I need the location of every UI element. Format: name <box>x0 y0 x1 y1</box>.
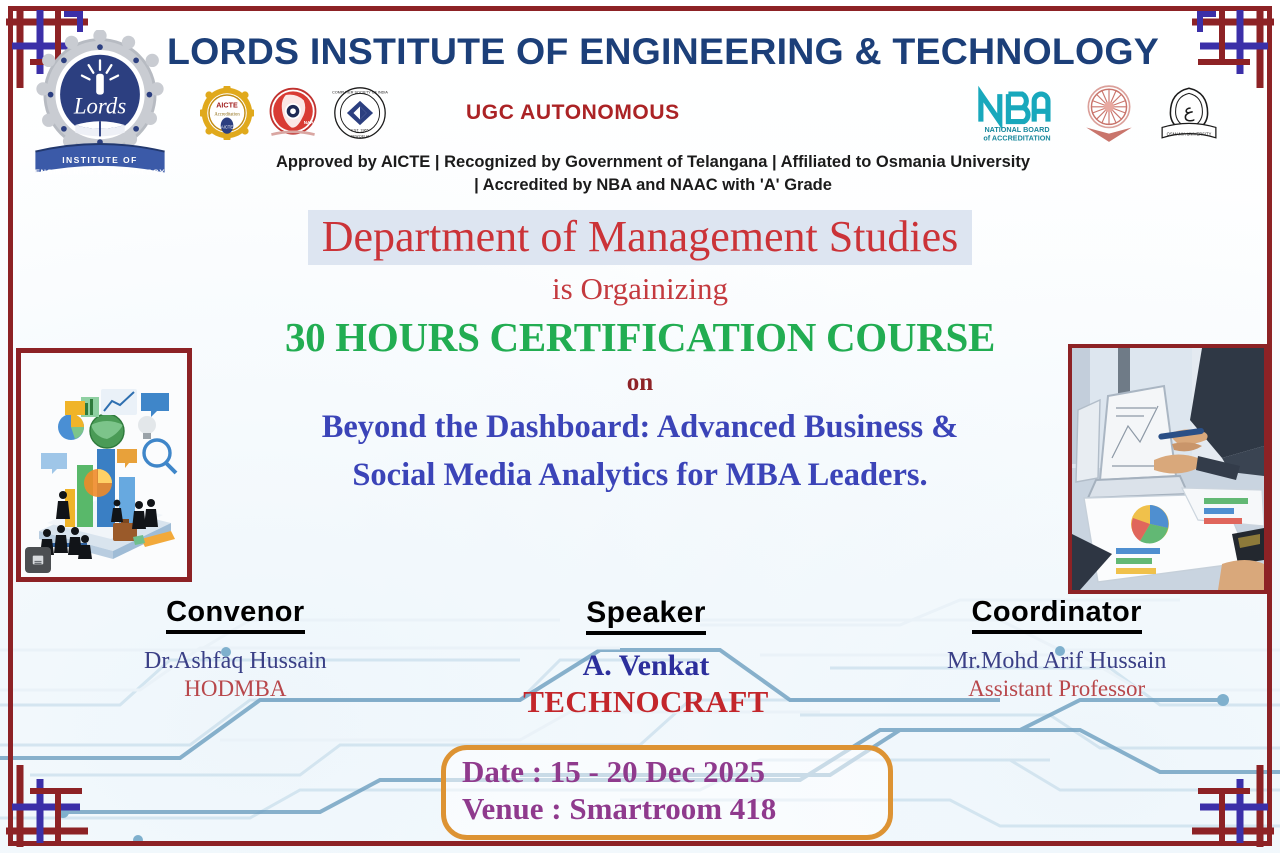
course-topic-line-2: Social Media Analytics for MBA Leaders. <box>210 451 1070 499</box>
convenor-subtitle: HODMBA <box>30 675 441 703</box>
ugc-autonomous-tag: UGC AUTONOMOUS <box>466 101 680 125</box>
svg-text:NEW DELHI: NEW DELHI <box>351 134 370 138</box>
svg-text:of ACCREDITATION: of ACCREDITATION <box>983 134 1050 143</box>
svg-text:OSMANIA UNIVERSITY: OSMANIA UNIVERSITY <box>1167 132 1212 137</box>
coordinator-subtitle: Assistant Professor <box>851 675 1262 703</box>
person-speaker: Speaker A. Venkat TECHNOCRAFT <box>441 596 852 721</box>
convenor-name: Dr.Ashfaq Hussain <box>30 647 441 675</box>
accreditation-logo-row: AICTE Accreditation AICTE NAAC <box>0 77 1280 149</box>
approval-lines: Approved by AICTE | Recognized by Govern… <box>0 151 1280 198</box>
analytics-illustration <box>21 353 187 577</box>
nirf-india-logo: NAAC <box>266 86 320 140</box>
person-convenor: Convenor Dr.Ashfaq Hussain HODMBA <box>0 596 441 721</box>
svg-text:NAAC: NAAC <box>304 120 318 125</box>
business-analytics-illustration-photo <box>16 348 192 582</box>
department-name: Department of Management Studies <box>308 210 973 265</box>
accreditation-logos-right: NATIONAL BOARD of ACCREDITATION <box>974 77 1220 149</box>
event-poster: Lords INSTITUTE OF ENGINEERING & TECHNOL… <box>0 0 1280 853</box>
role-label-coordinator: Coordinator <box>972 596 1142 634</box>
approval-line-2: | Accredited by NBA and NAAC with 'A' Gr… <box>26 174 1280 197</box>
speaker-name: A. Venkat <box>441 648 852 683</box>
book-glyph-icon <box>31 553 45 567</box>
svg-text:NATIONAL BOARD: NATIONAL BOARD <box>984 125 1049 134</box>
schedule-date: Date : 15 - 20 Dec 2025 <box>462 754 872 791</box>
schedule-box: Date : 15 - 20 Dec 2025 Venue : Smartroo… <box>441 745 893 840</box>
svg-text:ENGINEERING & TECHNOLOGY: ENGINEERING & TECHNOLOGY <box>35 167 165 176</box>
svg-text:EST. 1965: EST. 1965 <box>351 129 368 133</box>
coordinator-name: Mr.Mohd Arif Hussain <box>851 647 1262 675</box>
approval-line-1: Approved by AICTE | Recognized by Govern… <box>26 151 1280 174</box>
computer-society-of-india-logo: COMPUTER SOCIETY OF INDIA EST. 1965 NEW … <box>332 85 388 141</box>
lords-institute-logo: Lords INSTITUTE OF ENGINEERING & TECHNOL… <box>24 30 176 182</box>
osmania-university-logo: ع OSMANIA UNIVERSITY <box>1158 82 1220 144</box>
course-topic-line-1: Beyond the Dashboard: Advanced Business … <box>210 403 1070 451</box>
svg-text:ع: ع <box>1183 101 1195 122</box>
role-label-convenor: Convenor <box>166 596 305 634</box>
person-coordinator: Coordinator Mr.Mohd Arif Hussain Assista… <box>851 596 1280 721</box>
svg-text:INSTITUTE OF: INSTITUTE OF <box>62 155 138 165</box>
speaker-subtitle: TECHNOCRAFT <box>441 683 852 720</box>
role-label-speaker: Speaker <box>586 596 706 635</box>
poster-header: Lords INSTITUTE OF ENGINEERING & TECHNOL… <box>0 0 1280 198</box>
business-meeting-analytics-photo <box>1068 344 1268 594</box>
government-of-telangana-emblem <box>1078 82 1140 144</box>
accreditation-logos-left: AICTE Accreditation AICTE NAAC <box>200 85 388 141</box>
meeting-photo-illustration <box>1072 348 1264 590</box>
svg-text:Accreditation: Accreditation <box>214 113 240 118</box>
institute-title: LORDS INSTITUTE OF ENGINEERING & TECHNOL… <box>0 30 1280 73</box>
department-band: Department of Management Studies <box>0 210 1280 265</box>
book-icon <box>25 547 51 573</box>
svg-text:AICTE: AICTE <box>221 124 233 129</box>
aicte-logo: AICTE Accreditation AICTE <box>200 86 254 140</box>
svg-text:COMPUTER SOCIETY OF INDIA: COMPUTER SOCIETY OF INDIA <box>332 90 388 94</box>
nba-logo: NATIONAL BOARD of ACCREDITATION <box>974 82 1060 144</box>
svg-text:Lords: Lords <box>73 94 127 119</box>
svg-text:AICTE: AICTE <box>216 101 238 110</box>
schedule-venue: Venue : Smartroom 418 <box>462 791 872 828</box>
organizing-text: is Orgainizing <box>0 271 1280 307</box>
people-row: Convenor Dr.Ashfaq Hussain HODMBA Speake… <box>0 596 1280 721</box>
